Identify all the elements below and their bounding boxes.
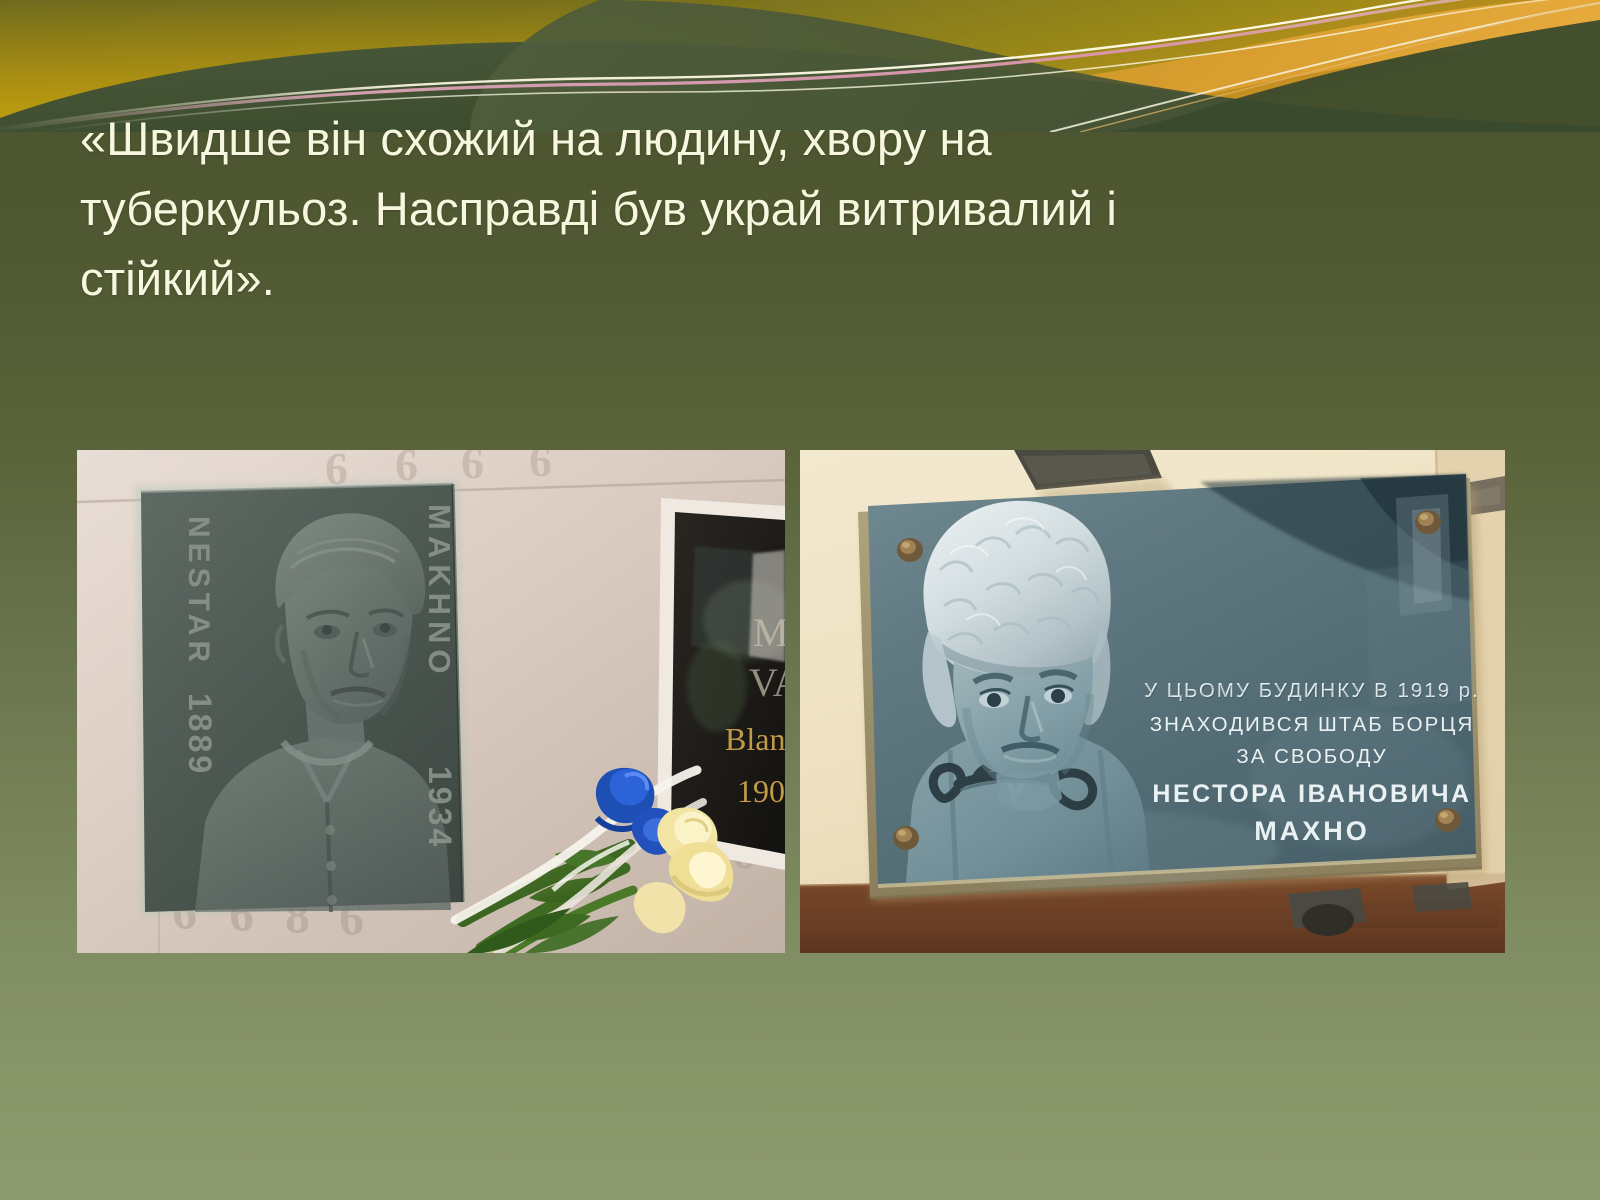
plaque-line-2: ЗНАХОДИВСЯ ШТАБ БОРЦЯ — [1150, 713, 1475, 736]
plaque-name-left: NESTAR — [182, 516, 215, 667]
photo-watermark — [1348, 902, 1498, 928]
plaque-year-death: 1934 — [422, 766, 458, 849]
neighbour-stone-year: 190 — [737, 773, 785, 809]
wall-number: 6 — [529, 450, 552, 486]
neighbour-stone-name: Blanch — [725, 721, 785, 757]
plaque-left-year: 1889 — [182, 693, 218, 776]
neighbour-stone-initial-2: VA — [749, 660, 785, 705]
plaque-line-4: НЕСТОРА ІВАНОВИЧА — [1152, 780, 1471, 808]
memorial-plaque-image: У ЦЬОМУ БУДИНКУ В 1919 р. ЗНАХОДИВСЯ ШТА… — [800, 450, 1505, 953]
bronze-plaque: NESTAR 1889 MAKHNO 1934 — [141, 484, 463, 912]
photo-row: 6 6 6 6 6 6 8 6 6 6 — [77, 450, 1505, 953]
presentation-slide: «Швидше він схожий на людину, хвору на т… — [0, 0, 1600, 1200]
plaque-line-5: МАХНО — [1254, 816, 1370, 846]
wall-number: 6 — [461, 450, 484, 488]
grave-plaque-image: 6 6 6 6 6 6 8 6 6 6 — [77, 450, 785, 953]
plaque-line-3: ЗА СВОБОДУ — [1236, 745, 1387, 768]
memorial-plaque-photo: У ЦЬОМУ БУДИНКУ В 1919 р. ЗНАХОДИВСЯ ШТА… — [800, 450, 1505, 953]
plaque-left-inscription: NESTAR — [182, 516, 215, 667]
grave-plaque-photo: 6 6 6 6 6 6 8 6 6 6 — [77, 450, 785, 953]
plaque-year-birth: 1889 — [182, 693, 218, 776]
svg-text:У ЦЬОМУ БУДИНКУ В 1919 р.: У ЦЬОМУ БУДИНКУ В 1919 р. — [1145, 681, 1481, 704]
slide-quote-text: «Швидше він схожий на людину, хвору на т… — [80, 104, 1260, 314]
plaque-right-year: 1934 — [422, 766, 458, 849]
neighbour-stone-initial-1: M — [753, 610, 785, 655]
granite-plaque: У ЦЬОМУ БУДИНКУ В 1919 р. ЗНАХОДИВСЯ ШТА… — [858, 474, 1486, 902]
plaque-name-right: MAKHNO — [422, 504, 457, 680]
inscription-shadow: У ЦЬОМУ БУДИНКУ В 1919 р. — [1145, 681, 1481, 704]
plaque-right-inscription: MAKHNO — [422, 504, 457, 680]
